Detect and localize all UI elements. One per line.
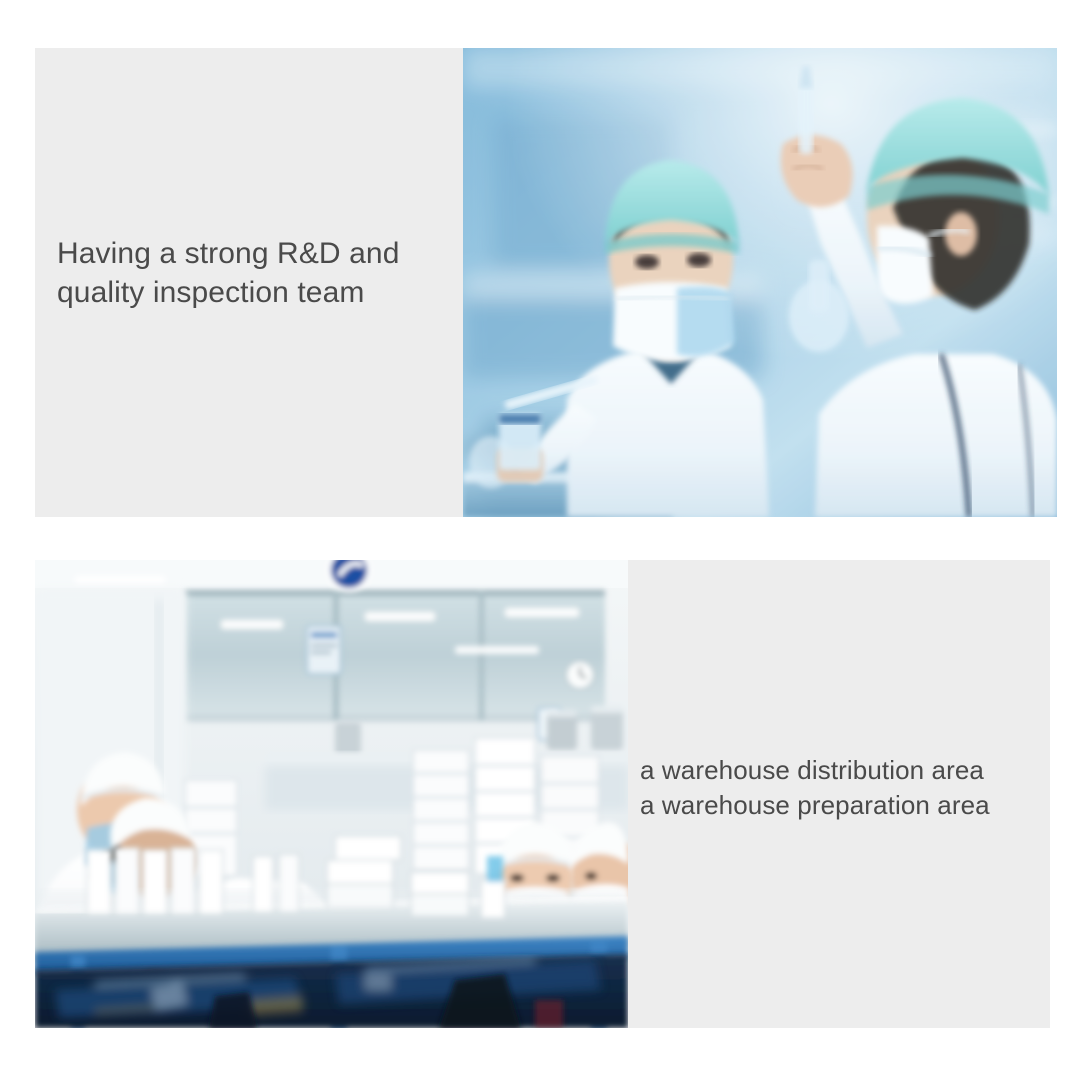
poster-canvas: Having a strong R&D and quality inspecti… [0,0,1080,1080]
warehouse-packing-photo-graphic [35,560,628,1028]
top-caption-text: Having a strong R&D and quality inspecti… [57,234,457,312]
warehouse-packing-photo [35,560,628,1028]
top-caption-panel: Having a strong R&D and quality inspecti… [35,48,463,517]
lab-inspection-photo-graphic [463,48,1057,517]
bottom-caption-panel: a warehouse distribution area a warehous… [628,560,1050,1028]
bottom-section: a warehouse distribution area a warehous… [35,560,1050,1028]
lab-inspection-photo [463,48,1057,517]
bottom-caption-text: a warehouse distribution area a warehous… [640,753,1052,823]
top-section: Having a strong R&D and quality inspecti… [35,48,1057,517]
